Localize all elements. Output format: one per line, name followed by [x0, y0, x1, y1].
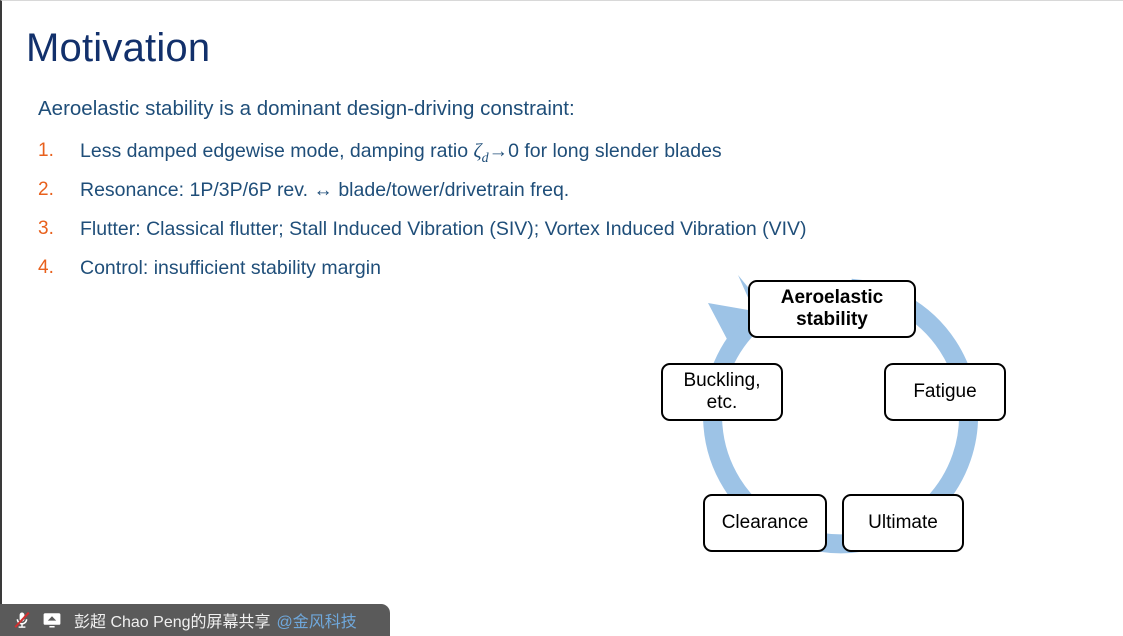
list-item: 1. Less damped edgewise mode, damping ra… — [38, 137, 938, 176]
zeta-subscript: d — [482, 151, 489, 166]
cycle-node-label: Buckling, etc. — [683, 370, 760, 414]
list-marker: 4. — [38, 254, 80, 282]
list-marker: 3. — [38, 215, 80, 243]
slide-canvas: Motivation Aeroelastic stability is a do… — [0, 0, 1123, 636]
microphone-muted-icon[interactable] — [10, 609, 34, 631]
list-marker: 2. — [38, 176, 80, 204]
list-item-text: Resonance: 1P/3P/6P rev. ↔ blade/tower/d… — [80, 176, 569, 204]
cycle-node-ultimate[interactable]: Ultimate — [842, 494, 964, 552]
lead-paragraph: Aeroelastic stability is a dominant desi… — [38, 95, 575, 123]
share-owner-text: 彭超 Chao Peng的屏幕共享 — [74, 608, 271, 632]
zeta-symbol: ζ — [474, 140, 482, 162]
list-item-text: Less damped edgewise mode, damping ratio… — [80, 137, 722, 173]
list-item: 3. Flutter: Classical flutter; Stall Ind… — [38, 215, 938, 254]
list-text-pre: Less damped edgewise mode, damping ratio — [80, 140, 474, 162]
list-text-post: →0 for long slender blades — [489, 140, 722, 162]
cycle-node-clearance[interactable]: Clearance — [703, 494, 827, 552]
list-marker: 1. — [38, 137, 80, 165]
cycle-node-label: Clearance — [722, 512, 809, 534]
list-item-text: Control: insufficient stability margin — [80, 254, 381, 282]
cycle-node-label-line2: stability — [796, 309, 868, 330]
design-driver-cycle-diagram: Aeroelastic stability Fatigue Ultimate C… — [642, 263, 1042, 563]
list-item-text: Flutter: Classical flutter; Stall Induce… — [80, 215, 807, 243]
list-item: 2. Resonance: 1P/3P/6P rev. ↔ blade/towe… — [38, 176, 938, 215]
screen-share-status-bar: 彭超 Chao Peng的屏幕共享 @金风科技 — [0, 604, 390, 636]
cycle-node-aeroelastic-stability[interactable]: Aeroelastic stability — [748, 280, 916, 338]
page-title: Motivation — [26, 23, 210, 73]
screen-share-icon[interactable] — [40, 609, 64, 631]
cycle-node-label-line1: Buckling, — [683, 370, 760, 391]
cycle-node-label: Ultimate — [868, 512, 938, 534]
share-company-handle: @金风科技 — [277, 608, 357, 632]
cycle-node-label: Fatigue — [913, 381, 976, 403]
cycle-node-label-line2: etc. — [707, 392, 738, 413]
cycle-node-label-line1: Aeroelastic — [781, 287, 883, 308]
cycle-node-label: Aeroelastic stability — [781, 287, 883, 331]
cycle-node-buckling[interactable]: Buckling, etc. — [661, 363, 783, 421]
cycle-node-fatigue[interactable]: Fatigue — [884, 363, 1006, 421]
